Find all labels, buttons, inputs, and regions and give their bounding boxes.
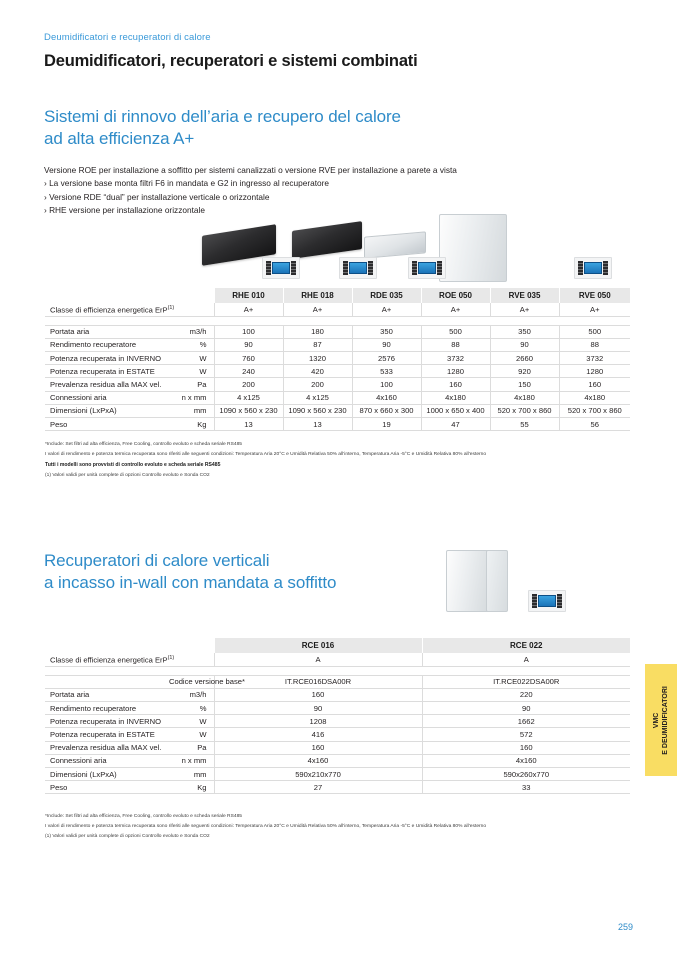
- cell-value: 160: [214, 688, 422, 701]
- table-row: PesoKg131319475556: [45, 418, 630, 431]
- row-label: Potenza recuperata in ESTATE: [45, 728, 169, 741]
- model-header: RHE 018: [283, 288, 352, 303]
- cell-value: 4x160: [422, 754, 630, 767]
- row-label: Prevalenza residua alla MAX vel.: [45, 741, 169, 754]
- cell-value: 1280: [421, 365, 490, 378]
- row-label: Prevalenza residua alla MAX vel.: [45, 378, 169, 391]
- cell-value: 150: [490, 378, 559, 391]
- cell-value: 160: [421, 378, 490, 391]
- cell-value: 90: [490, 338, 559, 351]
- side-tab-line2: E DEUMIDIFICATORI: [662, 686, 669, 755]
- controller-device-5: [528, 590, 566, 612]
- cell-value: 2576: [352, 352, 421, 365]
- cell-value: 200: [283, 378, 352, 391]
- row-unit: W: [169, 715, 214, 728]
- cell-value: A+: [559, 303, 630, 316]
- cell-value: 4x180: [559, 391, 630, 404]
- side-tab-line1: VMC: [653, 712, 660, 728]
- controller-right-bar: [557, 594, 562, 608]
- cell-value: 1662: [422, 715, 630, 728]
- cell-value: 4x180: [490, 391, 559, 404]
- cell-value: 3732: [559, 352, 630, 365]
- row-unit: Codice versione base*: [169, 675, 214, 688]
- row-unit: Pa: [169, 741, 214, 754]
- row-label: Dimensioni (LxPxA): [45, 768, 169, 781]
- cell-value: 1090 x 560 x 230: [214, 404, 283, 417]
- table-row: PesoKg2733: [45, 781, 630, 794]
- section1-heading-line1: Sistemi di rinnovo dell’aria e recupero …: [44, 106, 401, 128]
- row-label: Connessioni aria: [45, 391, 169, 404]
- cell-value: 1320: [283, 352, 352, 365]
- cell-value: 100: [352, 378, 421, 391]
- row-unit: m3/h: [169, 325, 214, 338]
- controller-left-bar: [412, 261, 417, 275]
- model-header: RVE 035: [490, 288, 559, 303]
- cell-value: 4 x125: [214, 391, 283, 404]
- product-image-rhe018: [292, 221, 362, 259]
- cell-value: 416: [214, 728, 422, 741]
- controller-right-bar: [368, 261, 373, 275]
- controller-device-1: [262, 257, 300, 279]
- cell-value: 500: [559, 325, 630, 338]
- cell-value: A: [422, 653, 630, 666]
- model-header: RDE 035: [352, 288, 421, 303]
- controller-screen: [538, 595, 557, 607]
- cell-value: 27: [214, 781, 422, 794]
- controller-left-bar: [266, 261, 271, 275]
- cell-value: 572: [422, 728, 630, 741]
- section1-bullet-0: › La versione base monta filtri F6 in ma…: [44, 177, 457, 190]
- cell-value: 160: [214, 741, 422, 754]
- table-row: Dimensioni (LxPxA)mm1090 x 560 x 2301090…: [45, 404, 630, 417]
- row-label: Potenza recuperata in ESTATE: [45, 365, 169, 378]
- row-unit: W: [169, 352, 214, 365]
- controller-right-bar: [291, 261, 296, 275]
- cell-value: 90: [214, 702, 422, 715]
- table-row: Rendimento recuperatore%908790889088: [45, 338, 630, 351]
- cell-value: 13: [283, 418, 352, 431]
- section1-description: Versione ROE per installazione a soffitt…: [44, 164, 457, 218]
- product-image-roe050: [439, 214, 507, 282]
- row-label: Connessioni aria: [45, 754, 169, 767]
- footnote-erp: (1) Valori validi per unità complete di …: [45, 832, 486, 842]
- cell-value: A: [214, 653, 422, 666]
- row-unit: W: [169, 365, 214, 378]
- table-spacer: [45, 666, 630, 675]
- table-header-row: RCE 016RCE 022: [45, 638, 630, 653]
- page-title: Deumidificatori, recuperatori e sistemi …: [44, 52, 417, 71]
- cell-value: A+: [490, 303, 559, 316]
- cell-value: 590x210x770: [214, 768, 422, 781]
- section2-heading: Recuperatori di calore verticali a incas…: [44, 550, 336, 595]
- controller-screen: [418, 262, 437, 274]
- cell-value: A+: [352, 303, 421, 316]
- section2-spec-table: RCE 016RCE 022Classe di efficienza energ…: [45, 638, 630, 794]
- cell-value: 220: [422, 688, 630, 701]
- cell-value: 100: [214, 325, 283, 338]
- cell-value: 90: [214, 338, 283, 351]
- cell-value: 56: [559, 418, 630, 431]
- table-row: Dimensioni (LxPxA)mm590x210x770590x260x7…: [45, 768, 630, 781]
- section1-footnotes: *Include: Set filtri ad alta efficienza,…: [45, 440, 486, 481]
- cell-value: 55: [490, 418, 559, 431]
- cell-value: 420: [283, 365, 352, 378]
- footnote-include: *Include: Set filtri ad alta efficienza,…: [45, 440, 486, 450]
- cell-value: 90: [352, 338, 421, 351]
- cell-value: 240: [214, 365, 283, 378]
- side-tab-vmc: VMC E DEUMIDIFICATORI: [645, 664, 677, 776]
- cell-value: 88: [421, 338, 490, 351]
- page-number: 259: [618, 922, 633, 932]
- footnote-conditions: I valori di rendimento e potenza termica…: [45, 822, 486, 832]
- table-row: Classe di efficienza energetica ErP(1)AA: [45, 653, 630, 666]
- row-label: Classe di efficienza energetica ErP(1): [45, 303, 169, 316]
- table-row: Connessioni arian x mm4 x1254 x1254x1604…: [45, 391, 630, 404]
- side-tab-label: VMC E DEUMIDIFICATORI: [652, 686, 671, 755]
- section2-footnotes: *Include: Set filtri ad alta efficienza,…: [45, 812, 486, 842]
- product-image-rce022: [486, 550, 508, 612]
- controller-device-4: [574, 257, 612, 279]
- row-unit: Kg: [169, 781, 214, 794]
- cell-value: 870 x 660 x 300: [352, 404, 421, 417]
- row-unit: [169, 303, 214, 316]
- cell-value: 180: [283, 325, 352, 338]
- cell-value: 520 x 700 x 860: [559, 404, 630, 417]
- section1-spec-table: RHE 010RHE 018RDE 035ROE 050RVE 035RVE 0…: [45, 288, 630, 431]
- cell-value: A+: [283, 303, 352, 316]
- cell-value: A+: [214, 303, 283, 316]
- cell-value: 760: [214, 352, 283, 365]
- model-header: ROE 050: [421, 288, 490, 303]
- cell-value: 4x160: [352, 391, 421, 404]
- cell-value: 1280: [559, 365, 630, 378]
- cell-value: 1208: [214, 715, 422, 728]
- cell-value: 88: [559, 338, 630, 351]
- cell-value: 2660: [490, 352, 559, 365]
- model-header: RVE 050: [559, 288, 630, 303]
- row-unit: Kg: [169, 418, 214, 431]
- footnote-all-models: Tutti i modelli sono provvisti di contro…: [45, 460, 486, 470]
- cell-value: 200: [214, 378, 283, 391]
- section-eyebrow: Deumidificatori e recuperatori di calore: [44, 32, 211, 43]
- cell-value: 1090 x 560 x 230: [283, 404, 352, 417]
- row-label: Peso: [45, 781, 169, 794]
- row-unit: n x mm: [169, 754, 214, 767]
- product-image-rce016: [446, 550, 490, 612]
- table-row: Rendimento recuperatore%9090: [45, 702, 630, 715]
- controller-screen: [584, 262, 603, 274]
- section2-product-images: [440, 548, 630, 630]
- cell-value: 3732: [421, 352, 490, 365]
- row-label: Rendimento recuperatore: [45, 338, 169, 351]
- section1-heading-line2: ad alta efficienza A+: [44, 128, 401, 150]
- row-unit: m3/h: [169, 688, 214, 701]
- cell-value: 160: [559, 378, 630, 391]
- section2-heading-line2: a incasso in-wall con mandata a soffitto: [44, 572, 336, 594]
- row-unit: mm: [169, 404, 214, 417]
- section1-product-images: [196, 214, 630, 288]
- table-row: Prevalenza residua alla MAX vel.Pa160160: [45, 741, 630, 754]
- table-row: Potenza recuperata in ESTATEW24042053312…: [45, 365, 630, 378]
- row-unit: [169, 653, 214, 666]
- cell-value: 33: [422, 781, 630, 794]
- table-row: Connessioni arian x mm4x1604x160: [45, 754, 630, 767]
- section1-intro: Versione ROE per installazione a soffitt…: [44, 164, 457, 177]
- row-label: Peso: [45, 418, 169, 431]
- row-unit: Pa: [169, 378, 214, 391]
- controller-right-bar: [603, 261, 608, 275]
- cell-value: 13: [214, 418, 283, 431]
- cell-value: 4x160: [214, 754, 422, 767]
- catalog-page: Deumidificatori e recuperatori di calore…: [0, 0, 677, 958]
- section2-heading-line1: Recuperatori di calore verticali: [44, 550, 336, 572]
- cell-value: IT.RCE016DSA00R: [214, 675, 422, 688]
- footnote-include: *Include: Set filtri ad alta efficienza,…: [45, 812, 486, 822]
- cell-value: 350: [352, 325, 421, 338]
- table-row: Codice versione base*IT.RCE016DSA00RIT.R…: [45, 675, 630, 688]
- cell-value: 350: [490, 325, 559, 338]
- table-row: Classe di efficienza energetica ErP(1)A+…: [45, 303, 630, 316]
- row-unit: n x mm: [169, 391, 214, 404]
- cell-value: 920: [490, 365, 559, 378]
- model-header: RCE 022: [422, 638, 630, 653]
- table-row: Portata ariam3/h100180350500350500: [45, 325, 630, 338]
- row-label: Potenza recuperata in INVERNO: [45, 352, 169, 365]
- section1-bullet-1: › Versione RDE “dual” per installazione …: [44, 191, 457, 204]
- controller-screen: [272, 262, 291, 274]
- row-label: [45, 675, 169, 688]
- controller-right-bar: [437, 261, 442, 275]
- table-spacer: [45, 316, 630, 325]
- controller-device-3: [408, 257, 446, 279]
- table-row: Portata ariam3/h160220: [45, 688, 630, 701]
- table-header-row: RHE 010RHE 018RDE 035ROE 050RVE 035RVE 0…: [45, 288, 630, 303]
- row-label: Potenza recuperata in INVERNO: [45, 715, 169, 728]
- table-row: Prevalenza residua alla MAX vel.Pa200200…: [45, 378, 630, 391]
- footnote-erp: (1) Valori validi per unità complete di …: [45, 471, 486, 481]
- cell-value: 500: [421, 325, 490, 338]
- footnote-conditions: I valori di rendimento e potenza termica…: [45, 450, 486, 460]
- controller-screen: [349, 262, 368, 274]
- cell-value: A+: [421, 303, 490, 316]
- table-row: Potenza recuperata in INVERNOW12081662: [45, 715, 630, 728]
- row-unit: W: [169, 728, 214, 741]
- controller-left-bar: [578, 261, 583, 275]
- row-label: Classe di efficienza energetica ErP(1): [45, 653, 169, 666]
- row-label: Rendimento recuperatore: [45, 702, 169, 715]
- table-row: Potenza recuperata in INVERNOW7601320257…: [45, 352, 630, 365]
- cell-value: 590x260x770: [422, 768, 630, 781]
- controller-left-bar: [532, 594, 537, 608]
- controller-device-2: [339, 257, 377, 279]
- cell-value: 520 x 700 x 860: [490, 404, 559, 417]
- cell-value: IT.RCE022DSA00R: [422, 675, 630, 688]
- table-row: Potenza recuperata in ESTATEW416572: [45, 728, 630, 741]
- row-unit: mm: [169, 768, 214, 781]
- row-label: Portata aria: [45, 325, 169, 338]
- controller-left-bar: [343, 261, 348, 275]
- cell-value: 19: [352, 418, 421, 431]
- cell-value: 160: [422, 741, 630, 754]
- cell-value: 533: [352, 365, 421, 378]
- cell-value: 4 x125: [283, 391, 352, 404]
- product-image-rde035: [364, 231, 426, 258]
- model-header: RHE 010: [214, 288, 283, 303]
- cell-value: 1000 x 650 x 400: [421, 404, 490, 417]
- model-header: RCE 016: [214, 638, 422, 653]
- row-unit: %: [169, 338, 214, 351]
- cell-value: 4x180: [421, 391, 490, 404]
- row-label: Portata aria: [45, 688, 169, 701]
- section1-heading: Sistemi di rinnovo dell’aria e recupero …: [44, 106, 401, 151]
- row-unit: %: [169, 702, 214, 715]
- cell-value: 90: [422, 702, 630, 715]
- cell-value: 87: [283, 338, 352, 351]
- row-label: Dimensioni (LxPxA): [45, 404, 169, 417]
- cell-value: 47: [421, 418, 490, 431]
